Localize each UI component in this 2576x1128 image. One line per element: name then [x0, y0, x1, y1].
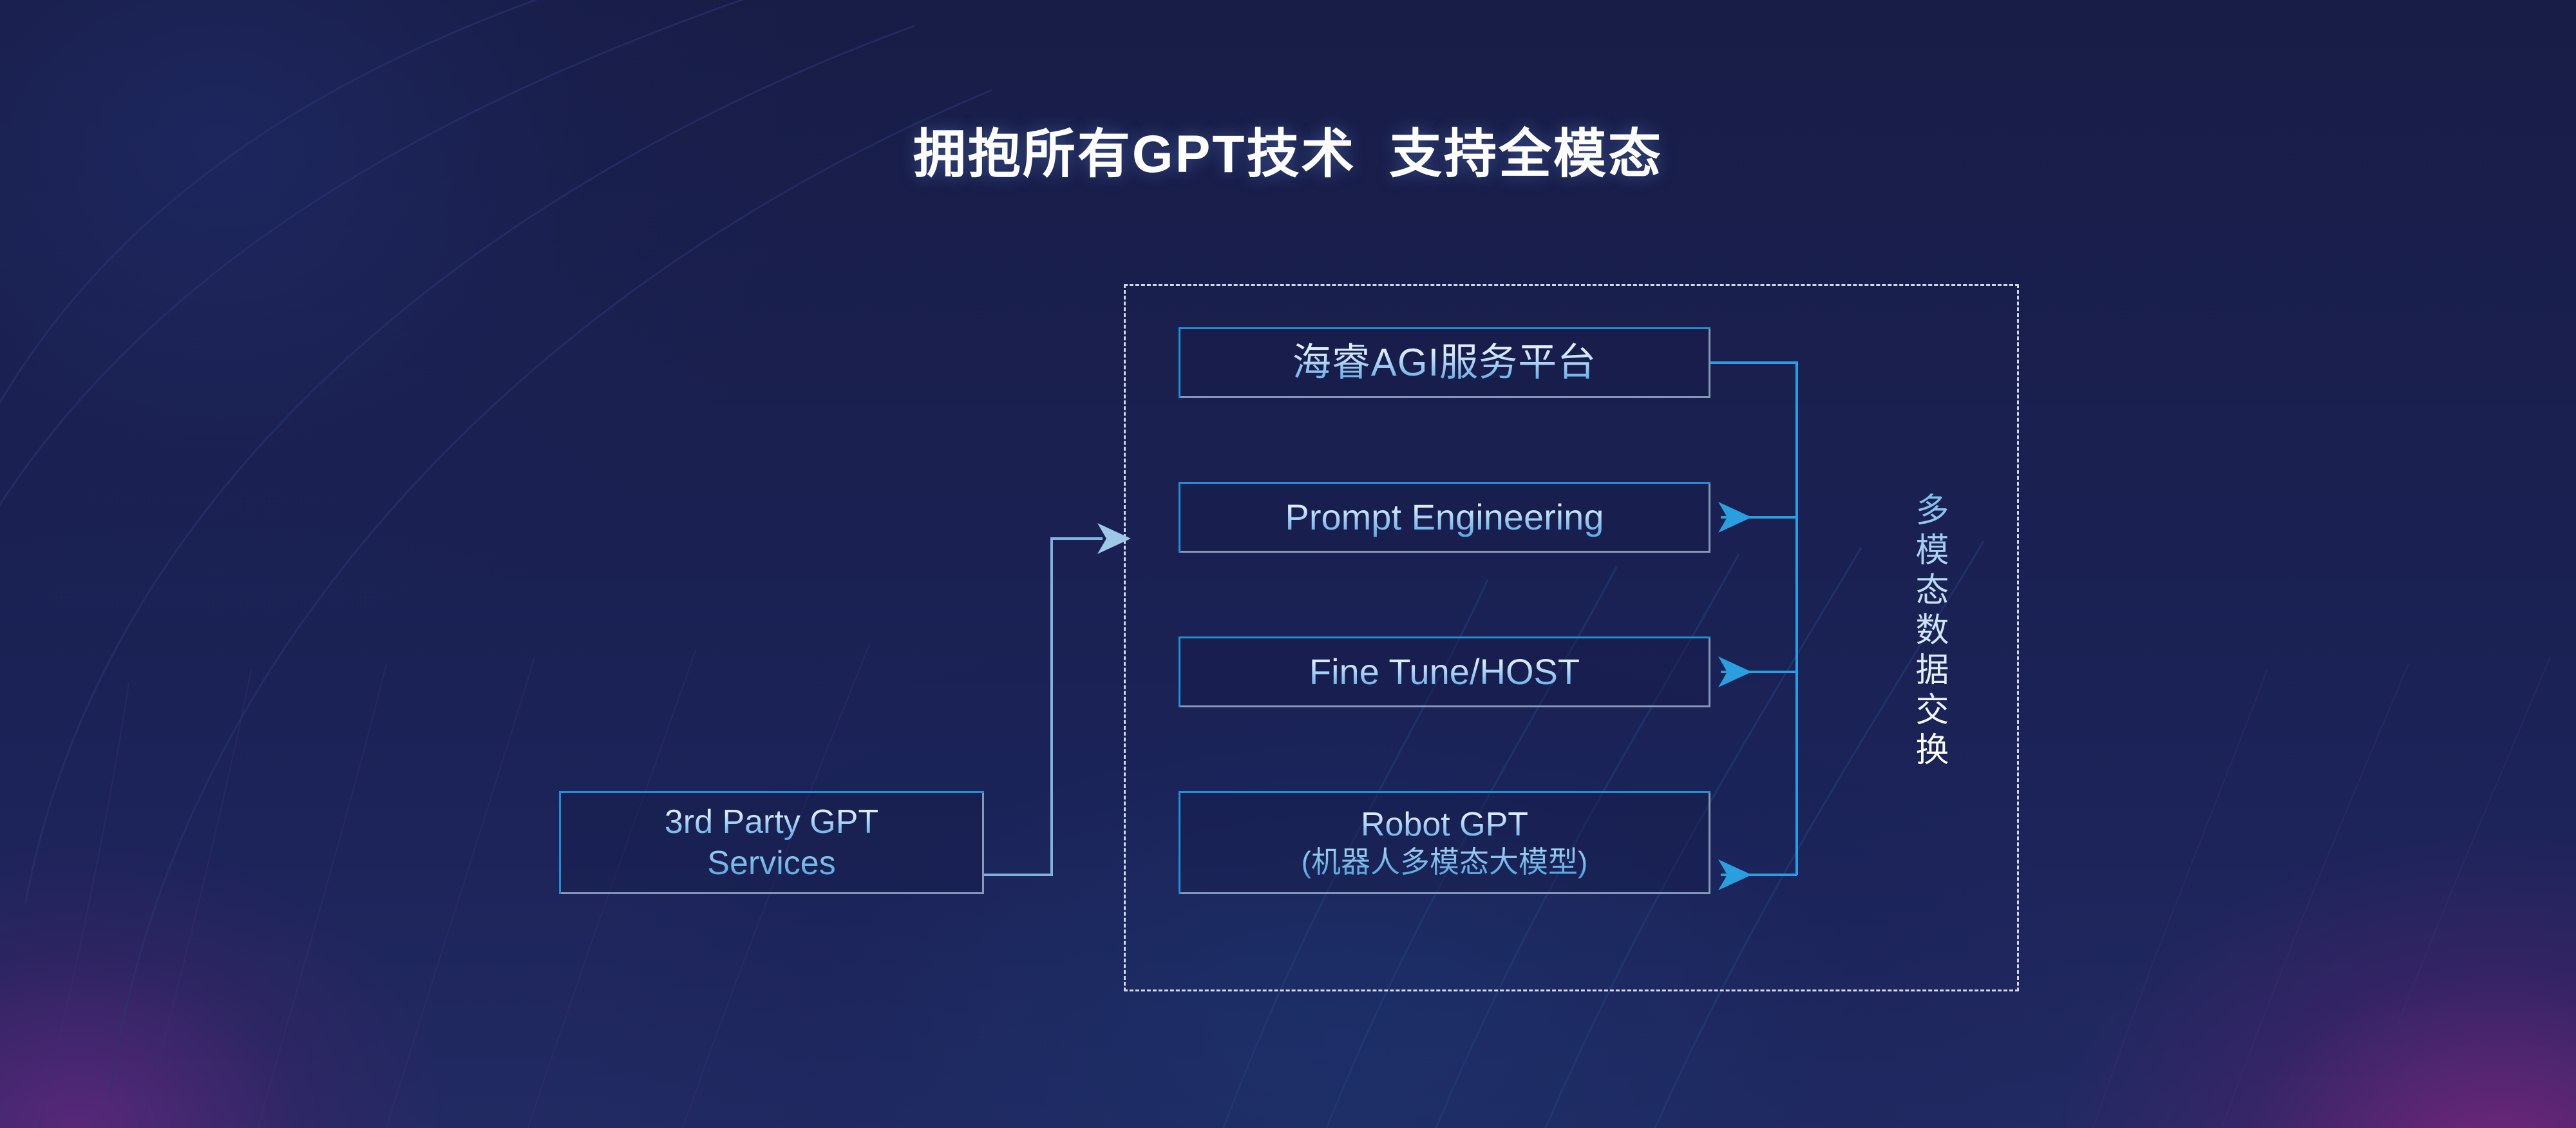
node-robot-gpt-sublabel: (机器人多模态大模型): [1302, 846, 1588, 879]
node-third-party-gpt-services-label: 3rd Party GPT: [665, 803, 878, 841]
background-glow-top-left: [0, 0, 799, 644]
node-prompt-engineering[interactable]: Prompt Engineering: [1179, 482, 1710, 553]
node-agi-platform-label: 海睿AGI服务平台: [1293, 341, 1596, 384]
node-fine-tune-host[interactable]: Fine Tune/HOST: [1179, 636, 1710, 707]
page-title: 拥抱所有GPT技术 支持全模态: [0, 111, 2576, 187]
node-third-party-gpt-services[interactable]: 3rd Party GPT Services: [559, 791, 984, 894]
node-fine-tune-host-label: Fine Tune/HOST: [1309, 652, 1580, 693]
node-prompt-engineering-label: Prompt Engineering: [1285, 497, 1604, 538]
connector-thirdparty-to-group: [984, 539, 1103, 875]
node-third-party-gpt-services-sublabel: Services: [707, 845, 835, 882]
slide-canvas: 拥抱所有GPT技术 支持全模态 海睿AGI服务平台 Prompt E: [0, 0, 2576, 1128]
node-robot-gpt-label: Robot GPT: [1361, 806, 1528, 843]
node-agi-platform[interactable]: 海睿AGI服务平台: [1179, 327, 1710, 398]
multimodal-data-exchange-label: 多模态数据交换: [1908, 492, 1953, 772]
node-robot-gpt[interactable]: Robot GPT (机器人多模态大模型): [1179, 791, 1710, 894]
